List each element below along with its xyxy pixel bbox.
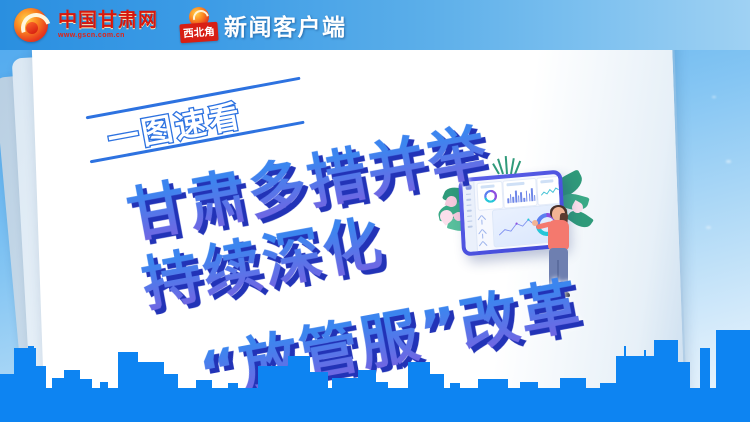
building bbox=[0, 374, 14, 392]
xibeijiao-stamp-icon: 西北角 bbox=[180, 7, 218, 43]
building bbox=[376, 382, 388, 392]
gansu-net-swirl-logo-icon[interactable] bbox=[14, 8, 48, 42]
building bbox=[450, 383, 460, 392]
skyline-ground bbox=[0, 388, 750, 422]
building bbox=[36, 366, 46, 392]
building bbox=[430, 374, 444, 392]
building bbox=[100, 382, 108, 392]
building bbox=[64, 370, 80, 392]
building bbox=[258, 366, 288, 392]
building bbox=[332, 378, 358, 392]
gansu-net-url: www.gscn.com.cn bbox=[58, 32, 158, 39]
building bbox=[600, 383, 616, 392]
building bbox=[28, 346, 34, 348]
presenter-legs bbox=[549, 248, 568, 293]
site-header-bar: 中国甘肃网 www.gscn.com.cn 西北角 新闻客户端 bbox=[0, 0, 750, 50]
gansu-net-logo-text[interactable]: 中国甘肃网 www.gscn.com.cn bbox=[58, 11, 158, 39]
building bbox=[196, 380, 212, 392]
building bbox=[228, 383, 238, 392]
presenter-hand bbox=[532, 220, 538, 226]
building bbox=[654, 340, 678, 392]
building bbox=[678, 362, 690, 392]
building bbox=[288, 356, 310, 392]
building bbox=[358, 370, 376, 392]
building bbox=[716, 330, 750, 392]
dashboard-card-sparkline bbox=[536, 176, 561, 206]
dashboard-card-donut bbox=[476, 181, 503, 211]
city-skyline bbox=[0, 327, 750, 422]
building bbox=[118, 352, 138, 392]
antenna bbox=[24, 354, 26, 422]
building bbox=[310, 372, 328, 392]
donut-chart-small bbox=[484, 189, 498, 203]
building bbox=[52, 378, 64, 392]
panel-line-chart bbox=[498, 215, 533, 243]
presenter-shoe-right bbox=[555, 292, 570, 297]
illustration-group bbox=[442, 152, 612, 327]
antenna bbox=[644, 350, 646, 422]
building bbox=[616, 356, 654, 392]
building bbox=[138, 362, 164, 392]
building bbox=[478, 379, 508, 392]
building bbox=[164, 374, 178, 392]
building bbox=[80, 379, 92, 392]
line-chart-small bbox=[541, 187, 559, 198]
xibeijiao-logo[interactable]: 西北角 新闻客户端 bbox=[180, 7, 347, 43]
building bbox=[700, 348, 710, 392]
bar-chart-small bbox=[507, 187, 539, 204]
xibeijiao-stamp-label: 西北角 bbox=[179, 22, 218, 44]
building bbox=[520, 382, 538, 392]
poster-canvas: 一图速看 甘肃多措并举 持续深化 “放管服”改革 bbox=[0, 0, 750, 422]
antenna bbox=[624, 346, 626, 422]
gansu-net-name: 中国甘肃网 bbox=[58, 11, 158, 30]
building bbox=[408, 362, 430, 392]
header-logos: 中国甘肃网 www.gscn.com.cn 西北角 新闻客户端 bbox=[14, 3, 347, 47]
presenter-figure bbox=[538, 207, 584, 325]
dashboard-card-bars bbox=[502, 178, 537, 209]
building bbox=[560, 378, 586, 392]
news-client-label: 新闻客户端 bbox=[224, 8, 347, 42]
